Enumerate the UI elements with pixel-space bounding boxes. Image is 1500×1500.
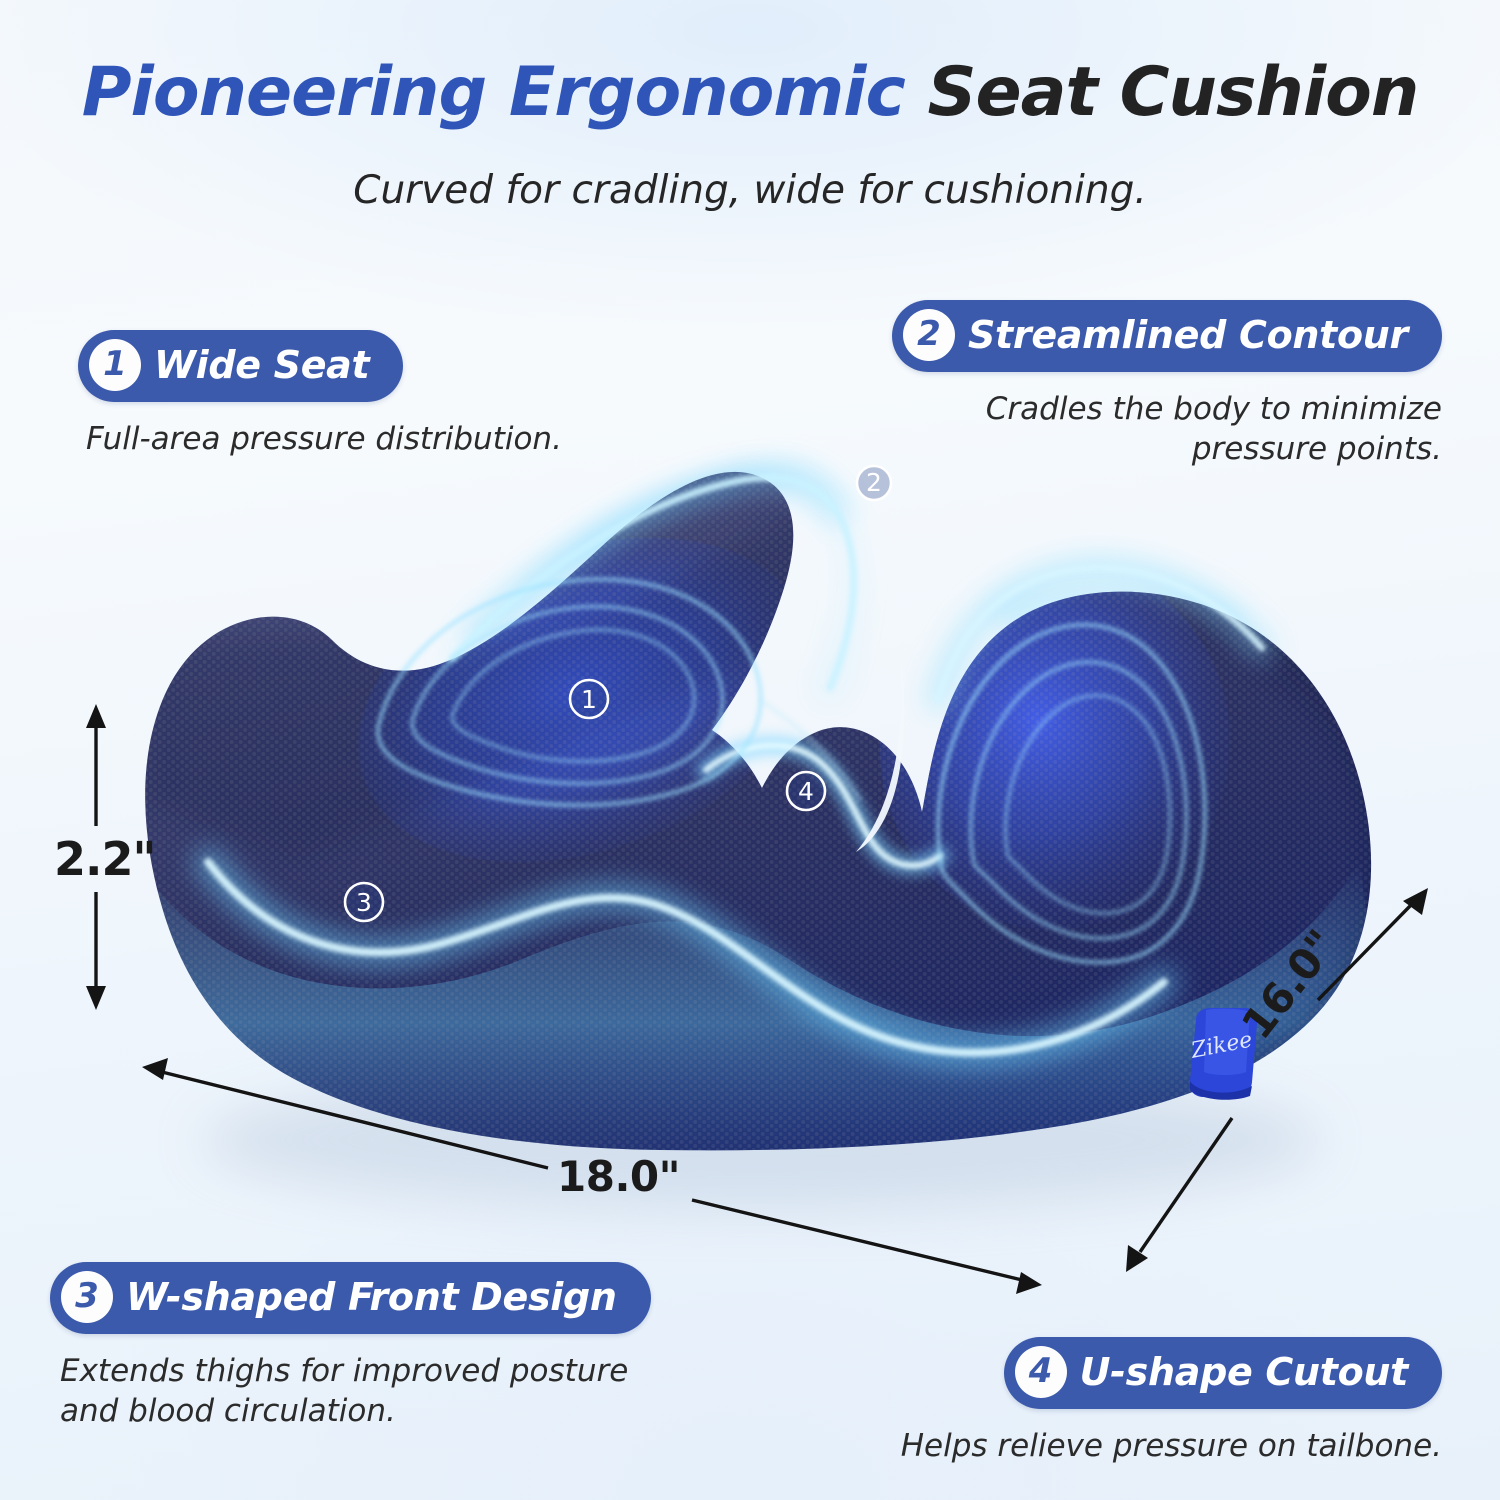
callout-2-pill[interactable]: 2 Streamlined Contour [892, 300, 1442, 372]
marker-4[interactable]: 4 [787, 772, 825, 810]
callout-1-label: Wide Seat [154, 343, 369, 387]
infographic-canvas: Pioneering Ergonomic Seat Cushion Curved… [0, 0, 1500, 1500]
svg-text:1: 1 [581, 685, 597, 714]
callout-1-description: Full-area pressure distribution. [86, 419, 562, 459]
dimension-width-label: 18.0" [557, 1152, 680, 1201]
callout-wide-seat: 1 Wide Seat Full-area pressure distribut… [78, 330, 562, 459]
callout-3-label: W-shaped Front Design [126, 1275, 617, 1319]
callout-w-shaped-front-design: 3 W-shaped Front Design Extends thighs f… [50, 1262, 651, 1432]
callout-4-pill[interactable]: 4 U-shape Cutout [1004, 1337, 1442, 1409]
callout-2-description: Cradles the body to minimize pressure po… [892, 389, 1442, 470]
callout-3-pill[interactable]: 3 W-shaped Front Design [50, 1262, 651, 1334]
callout-4-number: 4 [1015, 1346, 1067, 1398]
callout-4-label: U-shape Cutout [1080, 1350, 1408, 1394]
callout-2-number: 2 [903, 309, 955, 361]
svg-text:3: 3 [356, 888, 372, 917]
callout-4-description: Helps relieve pressure on tailbone. [901, 1426, 1442, 1466]
callout-3-description: Extends thighs for improved posture and … [60, 1351, 651, 1432]
svg-text:4: 4 [798, 777, 814, 806]
callout-3-number: 3 [61, 1271, 113, 1323]
callout-1-pill[interactable]: 1 Wide Seat [78, 330, 403, 402]
callout-1-number: 1 [89, 339, 141, 391]
callout-2-label: Streamlined Contour [968, 313, 1408, 357]
dimension-height-label: 2.2" [54, 832, 155, 886]
cushion-body: Zikee 1 2 3 4 [120, 466, 1420, 1200]
callout-streamlined-contour: 2 Streamlined Contour Cradles the body t… [892, 300, 1442, 470]
marker-2[interactable]: 2 [857, 466, 891, 500]
svg-text:2: 2 [866, 468, 882, 497]
callout-u-shape-cutout: 4 U-shape Cutout Helps relieve pressure … [901, 1337, 1442, 1466]
marker-3[interactable]: 3 [345, 883, 383, 921]
marker-1[interactable]: 1 [570, 680, 608, 718]
